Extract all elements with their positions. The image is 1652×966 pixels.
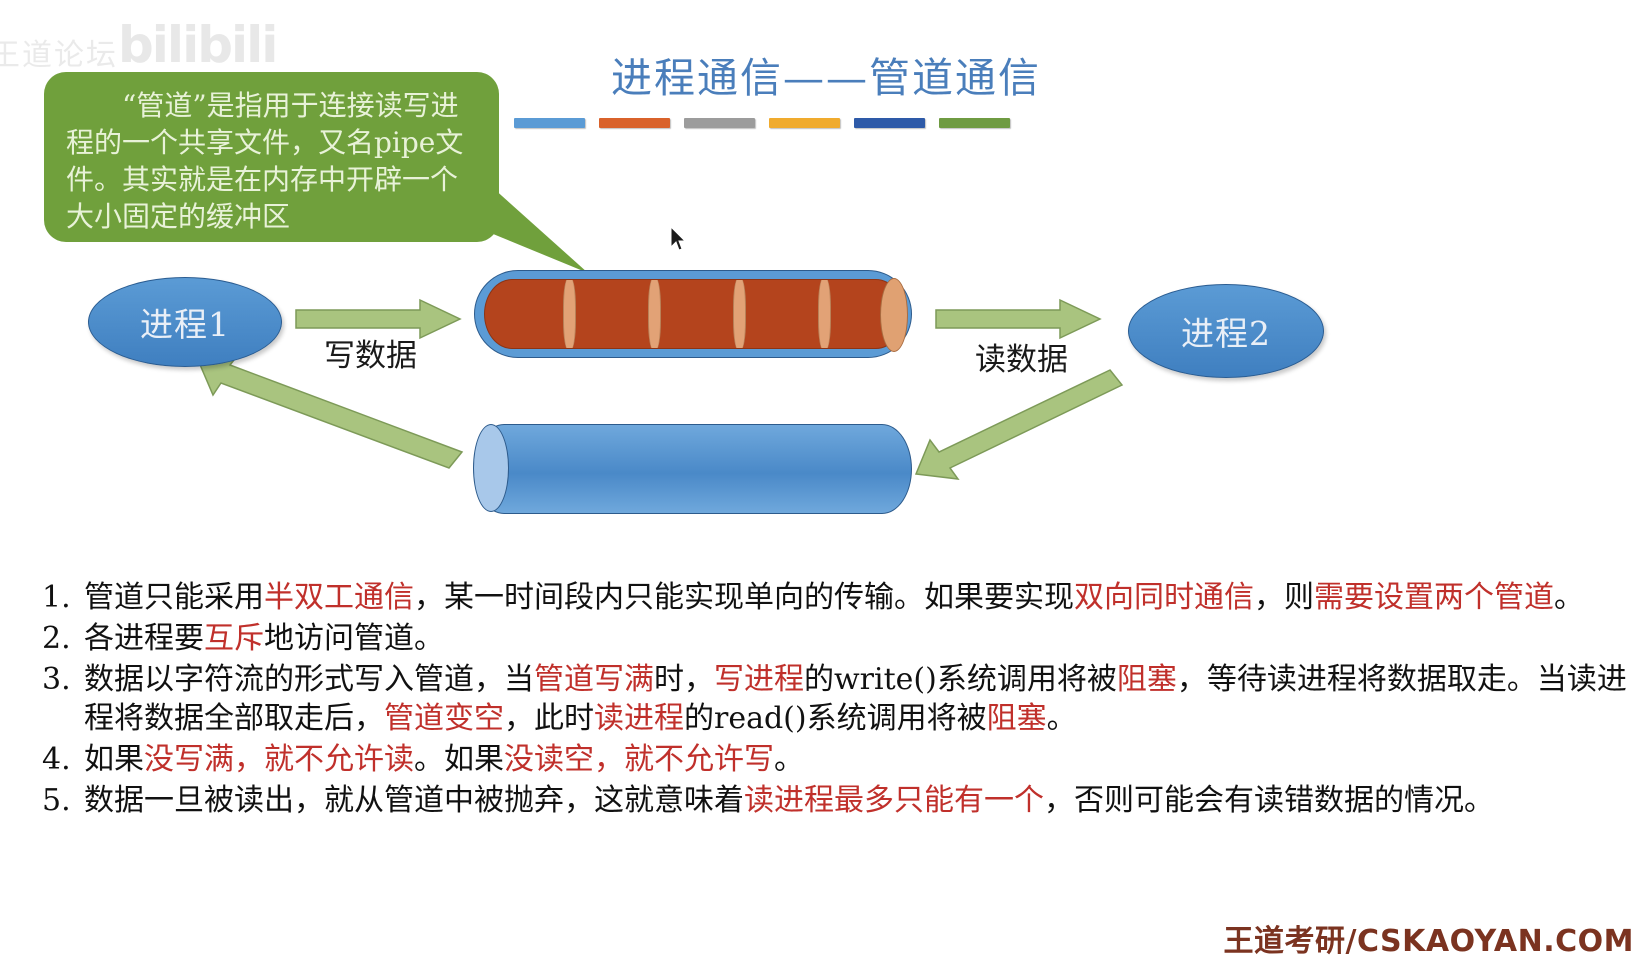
pipe-full-of-data (474, 270, 912, 358)
title-bar-6 (939, 118, 1010, 128)
title-bar-4 (769, 118, 840, 128)
notes-list: 1. 管道只能采用半双工通信，某一时间段内只能实现单向的传输。如果要实现双向同时… (30, 578, 1630, 822)
pipe-diagram: 进程1 进程2 写数据 读数据 (0, 252, 1652, 552)
list-item: 2. 各进程要互斥地访问管道。 (30, 619, 1630, 658)
list-item-text: 数据一旦被读出，就从管道中被抛弃，这就意味着读进程最多只能有一个，否则可能会有读… (84, 781, 1630, 820)
write-data-label: 写数据 (324, 330, 417, 375)
title-bar-5 (854, 118, 925, 128)
definition-callout: “管道”是指用于连接读写进程的一个共享文件，又名pipe文件。其实就是在内存中开… (44, 72, 499, 242)
title-bar-1 (514, 118, 585, 128)
slide-canvas: 王道论坛 bilibili 进程通信——管道通信 “管道”是指用于连接读写进程的… (0, 0, 1652, 966)
pipe-empty (474, 424, 912, 514)
title-decoration-bars (514, 118, 1010, 128)
list-item-text: 各进程要互斥地访问管道。 (84, 619, 1630, 658)
list-item: 1. 管道只能采用半双工通信，某一时间段内只能实现单向的传输。如果要实现双向同时… (30, 578, 1630, 617)
pipe-seam-4 (818, 279, 831, 349)
list-item-text: 数据以字符流的形式写入管道，当管道写满时，写进程的write()系统调用将被阻塞… (84, 660, 1630, 738)
pipe-right-cap (880, 278, 908, 352)
list-item-number: 2. (30, 619, 84, 658)
pipe-data-fill (484, 279, 904, 349)
watermark-bottom-right: 王道考研/CSKAOYAN.COM (1224, 916, 1634, 960)
list-item-number: 4. (30, 740, 84, 779)
list-item-text: 如果没写满，就不允许读。如果没读空，就不允许写。 (84, 740, 1630, 779)
list-item: 5. 数据一旦被读出，就从管道中被抛弃，这就意味着读进程最多只能有一个，否则可能… (30, 781, 1630, 820)
read-data-label: 读数据 (975, 334, 1068, 379)
arrow-proc2-to-empty (916, 370, 1122, 479)
process-1-node[interactable]: 进程1 (88, 277, 282, 367)
process-1-label: 进程1 (140, 298, 230, 346)
list-item: 4. 如果没写满，就不允许读。如果没读空，就不允许写。 (30, 740, 1630, 779)
title-bar-2 (599, 118, 670, 128)
callout-text: “管道”是指用于连接读写进程的一个共享文件，又名pipe文件。其实就是在内存中开… (66, 88, 477, 236)
list-item-number: 3. (30, 660, 84, 699)
pipe-empty-body (474, 424, 912, 514)
pipe-seam-1 (563, 279, 576, 349)
title-bar-3 (684, 118, 755, 128)
pipe-empty-left-cap (473, 424, 509, 512)
process-2-node[interactable]: 进程2 (1128, 284, 1324, 378)
list-item-text: 管道只能采用半双工通信，某一时间段内只能实现单向的传输。如果要实现双向同时通信，… (84, 578, 1630, 617)
process-2-label: 进程2 (1181, 307, 1271, 355)
pipe-seam-2 (648, 279, 661, 349)
list-item-number: 5. (30, 781, 84, 820)
mouse-cursor-icon (670, 226, 688, 252)
list-item-number: 1. (30, 578, 84, 617)
arrow-read (936, 300, 1100, 338)
list-item: 3. 数据以字符流的形式写入管道，当管道写满时，写进程的write()系统调用将… (30, 660, 1630, 738)
pipe-seam-3 (733, 279, 746, 349)
